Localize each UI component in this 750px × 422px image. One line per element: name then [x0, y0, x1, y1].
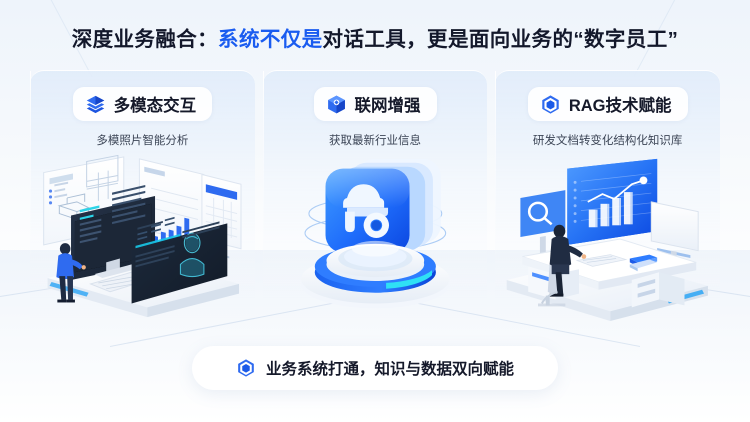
hexagon-icon	[236, 358, 256, 378]
circular-podium	[301, 241, 449, 308]
card-subtitle: 研发文档转变化结构化知识库	[495, 132, 720, 148]
main-app-card	[325, 169, 409, 253]
illustration-multi-screen-workstation	[30, 153, 255, 323]
card-header-pill: 多模态交互	[73, 87, 213, 121]
illustration-desk-analytics-workstation	[495, 153, 720, 323]
feature-card-rag[interactable]: RAG技术赋能 研发文档转变化结构化知识库	[495, 70, 720, 320]
bottom-banner[interactable]: 业务系统打通，知识与数据双向赋能	[192, 346, 558, 390]
card-title: 多模态交互	[114, 92, 197, 116]
hexagon-icon	[540, 94, 561, 115]
layers-icon	[85, 94, 106, 115]
cube-icon	[326, 94, 347, 115]
page-title: 深度业务融合：系统不仅是对话工具，更是面向业务的“数字员工”	[0, 22, 750, 52]
illustration-svg	[263, 153, 488, 323]
title-tail: 对话工具，更是面向业务的“数字员工”	[323, 28, 679, 51]
card-title: RAG技术赋能	[569, 92, 672, 116]
illustration-svg	[30, 153, 255, 323]
banner-text: 业务系统打通，知识与数据双向赋能	[266, 357, 514, 379]
card-subtitle: 多模照片智能分析	[30, 132, 255, 148]
feature-card-row: 多模态交互 多模照片智能分析	[30, 70, 720, 320]
feature-card-multimodal[interactable]: 多模态交互 多模照片智能分析	[30, 70, 255, 320]
illustration-floating-app-card-on-podium	[263, 153, 488, 323]
illustration-svg	[495, 153, 720, 323]
card-header-pill: RAG技术赋能	[528, 87, 688, 121]
title-highlight: 系统不仅是	[218, 28, 323, 51]
title-lead: 深度业务融合：	[72, 28, 218, 51]
card-title: 联网增强	[355, 92, 421, 116]
feature-card-web-enhanced[interactable]: 联网增强 获取最新行业信息	[263, 70, 488, 320]
card-subtitle: 获取最新行业信息	[263, 132, 488, 148]
card-header-pill: 联网增强	[314, 87, 437, 121]
